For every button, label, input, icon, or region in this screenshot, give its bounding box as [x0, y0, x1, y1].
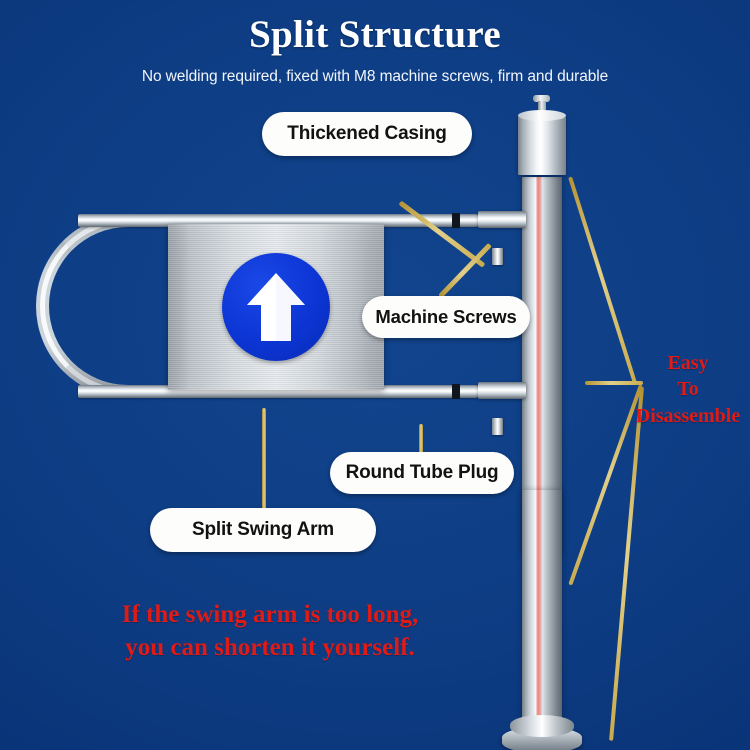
arm-split-gap-upper: [452, 213, 460, 228]
machine-screw-upper: [492, 248, 503, 265]
post-split-joint: [522, 466, 562, 490]
callout-label: Machine Screws: [375, 306, 516, 328]
callout-thickened-casing[interactable]: Thickened Casing: [262, 112, 472, 156]
up-arrow-icon: [245, 271, 307, 343]
round-tube-plug-upper: [478, 211, 526, 228]
annotation-easy-to-disassemble: Easy To Disassemble: [626, 350, 750, 429]
page-title: Split Structure: [0, 12, 750, 57]
annotation-line-1: Easy: [626, 350, 750, 376]
product-diagram-canvas: Split Structure No welding required, fix…: [0, 0, 750, 750]
annotation-line-1: If the swing arm is too long,: [60, 598, 480, 631]
annotation-line-2: you can shorten it yourself.: [60, 631, 480, 664]
thickened-casing-cap: [518, 115, 566, 175]
machine-screw-lower: [492, 418, 503, 435]
leader-line-disassemble-bottom: [609, 387, 644, 741]
annotation-line-2: To: [626, 376, 750, 402]
brushed-steel-sign-plate: [168, 224, 384, 390]
callout-round-tube-plug[interactable]: Round Tube Plug: [330, 452, 514, 494]
callout-label: Round Tube Plug: [346, 462, 499, 484]
callout-label: Thickened Casing: [287, 123, 446, 145]
callout-split-swing-arm[interactable]: Split Swing Arm: [150, 508, 376, 552]
vertical-post: [500, 95, 610, 750]
annotation-line-3: Disassemble: [626, 403, 750, 429]
annotation-shorten-arm: If the swing arm is too long, you can sh…: [60, 598, 480, 664]
page-subtitle: No welding required, fixed with M8 machi…: [0, 68, 750, 86]
post-lower-section: [522, 490, 562, 750]
leader-line-round-tube-plug: [419, 424, 423, 454]
swing-arm-elbow: [36, 214, 146, 398]
leader-line-split-swing-arm: [262, 408, 266, 514]
post-base-collar: [510, 715, 574, 737]
callout-label: Split Swing Arm: [192, 519, 334, 541]
round-tube-plug-lower: [478, 382, 526, 399]
callout-machine-screws[interactable]: Machine Screws: [362, 296, 530, 338]
blue-circle-badge: [222, 253, 330, 361]
arm-split-gap-lower: [452, 384, 460, 399]
